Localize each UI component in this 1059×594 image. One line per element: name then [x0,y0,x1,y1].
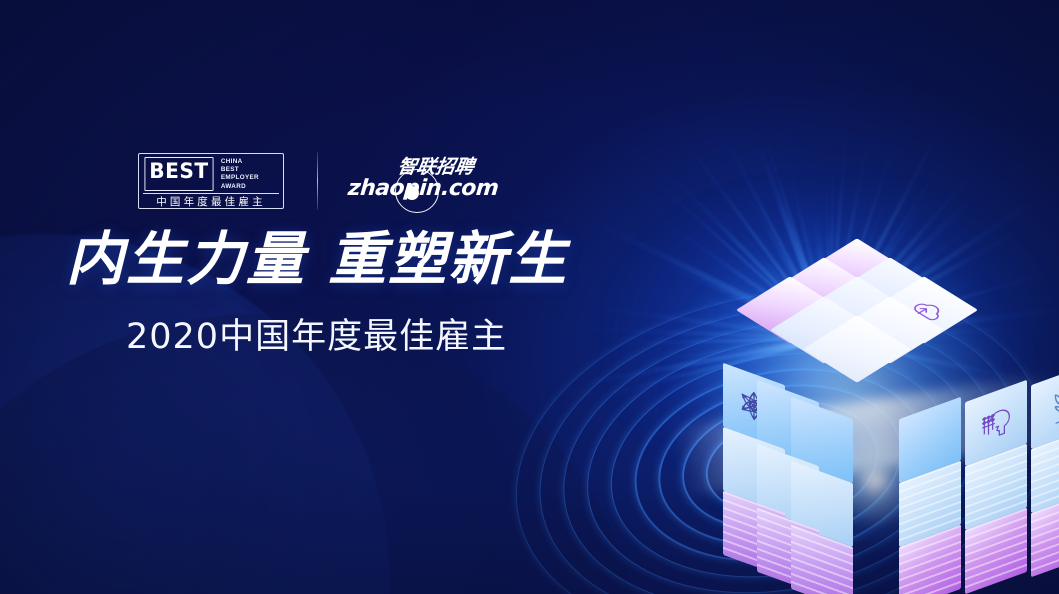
badge-line-china: CHINA [221,158,279,166]
badge-line-award: AWARD [221,183,279,191]
badge-english-lines: CHINA BEST EMPLOYER AWARD [221,157,279,191]
ai-brain-icon [976,396,1016,451]
badge-best-word: BEST [144,157,213,191]
logo-row: BEST CHINA BEST EMPLOYER AWARD 中国年度最佳雇主 … [138,152,516,210]
badge-line-employer: BEST EMPLOYER [221,166,279,182]
growth-sprout-icon [1042,379,1059,434]
zhaopin-chinese-name: 智联招聘 [396,152,476,179]
cube-tile-front-right [1031,363,1059,450]
badge-top-row: BEST CHINA BEST EMPLOYER AWARD [143,157,279,191]
best-award-badge: BEST CHINA BEST EMPLOYER AWARD 中国年度最佳雇主 [138,153,284,209]
badge-chinese-line: 中国年度最佳雇主 [143,193,279,211]
zhaopin-logo: 智联招聘 zhaopin.com [348,152,516,210]
logo-divider [317,152,318,210]
zhaopin-domain: zhaopin.com [347,176,499,201]
page-subtitle: 2020中国年度最佳雇主 [126,314,507,360]
poster-canvas: BEST CHINA BEST EMPLOYER AWARD 中国年度最佳雇主 … [0,0,1059,594]
poster-content: BEST CHINA BEST EMPLOYER AWARD 中国年度最佳雇主 … [0,0,600,594]
page-title: 内生力量 重塑新生 [66,224,568,294]
rubiks-cube-graphic [645,150,1059,570]
